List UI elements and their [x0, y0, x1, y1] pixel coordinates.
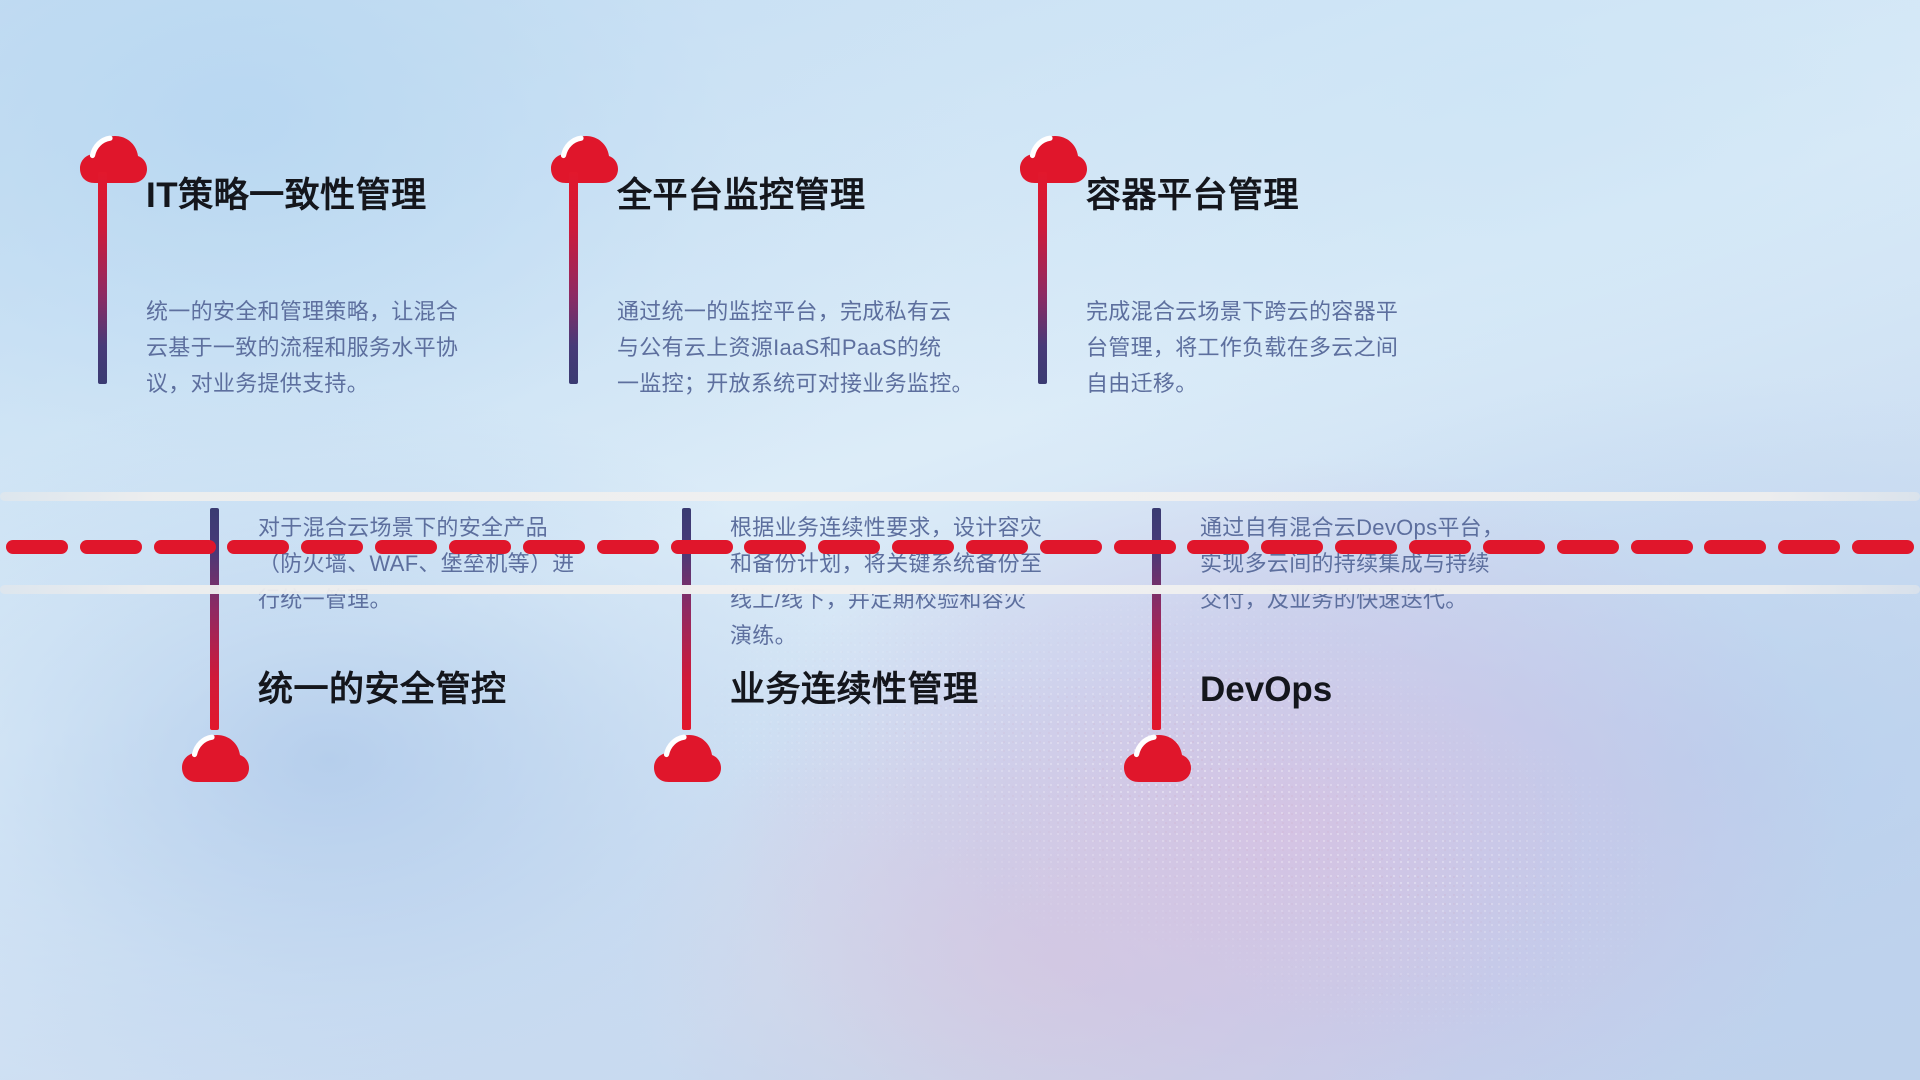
road-dash	[1631, 540, 1693, 554]
cloud-icon	[1122, 730, 1192, 784]
road-dash	[1483, 540, 1545, 554]
feature-title: DevOps	[1200, 672, 1332, 707]
road-dashed-centerline	[0, 540, 1920, 554]
cloud-icon	[652, 730, 722, 784]
infographic-canvas: IT策略一致性管理 统一的安全和管理策略，让混合 云基于一致的流程和服务水平协 …	[0, 0, 1920, 1080]
road-dash	[1040, 540, 1102, 554]
connector-stem	[98, 172, 107, 384]
road-dash	[227, 540, 289, 554]
road-dash	[671, 540, 733, 554]
road-dash	[818, 540, 880, 554]
road-dash	[1557, 540, 1619, 554]
road-dash	[154, 540, 216, 554]
road-dash	[1852, 540, 1914, 554]
road-dash	[80, 540, 142, 554]
feature-title: IT策略一致性管理	[146, 178, 427, 213]
feature-title: 业务连续性管理	[730, 672, 979, 707]
feature-description: 对于混合云场景下的安全产品 （防火墙、WAF、堡垒机等）进 行统一管理。	[258, 510, 638, 618]
cloud-icon	[549, 131, 619, 185]
road-dash	[6, 540, 68, 554]
road-dash	[1261, 540, 1323, 554]
connector-stem	[569, 172, 578, 384]
feature-description: 通过统一的监控平台，完成私有云 与公有云上资源IaaS和PaaS的统 一监控；开…	[617, 294, 1017, 402]
road-line-top	[0, 492, 1920, 501]
road-dash	[1409, 540, 1471, 554]
cloud-icon	[1018, 131, 1088, 185]
road-dash	[744, 540, 806, 554]
road-dash	[1335, 540, 1397, 554]
feature-title: 容器平台管理	[1086, 178, 1299, 213]
road-dash	[301, 540, 363, 554]
road-dash	[1704, 540, 1766, 554]
road-dash	[375, 540, 437, 554]
road-dash	[966, 540, 1028, 554]
feature-description: 根据业务连续性要求，设计容灾 和备份计划，将关键系统备份至 线上/线下，并定期校…	[730, 510, 1110, 654]
road-dash	[892, 540, 954, 554]
connector-stem	[1038, 172, 1047, 384]
feature-title: 统一的安全管控	[258, 672, 507, 707]
road-dash	[1778, 540, 1840, 554]
road-dash	[449, 540, 511, 554]
road-dash	[1114, 540, 1176, 554]
feature-description: 统一的安全和管理策略，让混合 云基于一致的流程和服务水平协 议，对业务提供支持。	[146, 294, 516, 402]
road-dash	[597, 540, 659, 554]
road-line-bottom	[0, 585, 1920, 594]
feature-title: 全平台监控管理	[617, 178, 866, 213]
road-dash	[523, 540, 585, 554]
feature-description: 完成混合云场景下跨云的容器平 台管理，将工作负载在多云之间 自由迁移。	[1086, 294, 1466, 402]
cloud-icon	[180, 730, 250, 784]
feature-description: 通过自有混合云DevOps平台， 实现多云间的持续集成与持续 交付，及业务的快速…	[1200, 510, 1580, 618]
cloud-icon	[78, 131, 148, 185]
road-dash	[1187, 540, 1249, 554]
